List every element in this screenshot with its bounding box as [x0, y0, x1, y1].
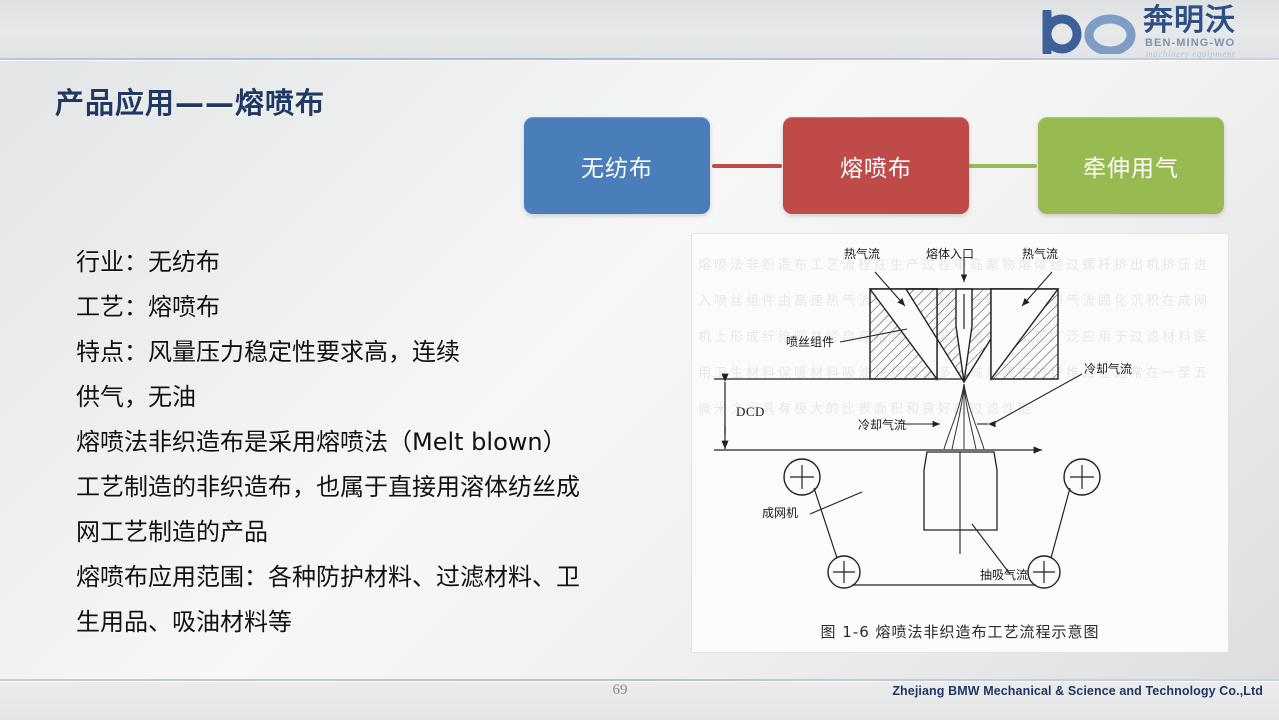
figure-label-cooling-air-center: 冷却气流 — [858, 416, 906, 433]
body-line: 生用品、吸油材料等 — [76, 600, 676, 645]
figure-label-web-former: 成网机 — [762, 504, 798, 521]
flow-box-label: 熔喷布 — [840, 149, 912, 183]
header-divider-highlight — [0, 60, 1279, 61]
bo-monogram-logo-icon — [1041, 10, 1145, 54]
figure-caption: 图 1-6 熔喷法非织造布工艺流程示意图 — [692, 621, 1228, 642]
process-diagram-figure: 熔喷法非织造布工艺流程在生产过程中高聚物熔体经过螺杆挤出机挤压进入喷丝组件由高速… — [692, 234, 1228, 652]
figure-label-hot-air-left: 热气流 — [844, 245, 880, 262]
slide: 奔明沃 BEN-MING-WO machinery equipment 产品应用… — [0, 0, 1279, 720]
logo-english-name: BEN-MING-WO — [1145, 37, 1235, 49]
brand-logo: 奔明沃 BEN-MING-WO machinery equipment — [1039, 4, 1271, 58]
figure-label-suction-air: 抽吸气流 — [980, 566, 1028, 583]
company-name: Zhejiang BMW Mechanical & Science and Te… — [892, 684, 1263, 698]
flow-box-label: 牵伸用气 — [1083, 149, 1179, 183]
connector-line-1 — [712, 164, 782, 168]
flow-box-nonwoven[interactable]: 无纺布 — [524, 117, 710, 214]
figure-label-spinneret: 喷丝组件 — [786, 333, 834, 350]
figure-label-dcd: DCD — [736, 404, 765, 420]
flow-box-label: 无纺布 — [581, 149, 653, 183]
body-text-block: 行业：无纺布 工艺：熔喷布 特点：风量压力稳定性要求高，连续 供气，无油 熔喷法… — [76, 240, 676, 645]
figure-label-melt-inlet: 熔体入口 — [926, 245, 974, 262]
body-line: 工艺：熔喷布 — [76, 285, 676, 330]
body-line: 工艺制造的非织造布，也属于直接用溶体纺丝成 — [76, 465, 676, 510]
process-flow: 无纺布 熔喷布 牵伸用气 — [524, 117, 1228, 217]
body-line: 特点：风量压力稳定性要求高，连续 — [76, 330, 676, 375]
body-line: 行业：无纺布 — [76, 240, 676, 285]
page-number: 69 — [600, 682, 640, 699]
logo-chinese-name: 奔明沃 — [1143, 5, 1236, 37]
meltblown-process-drawing — [692, 234, 1228, 652]
logo-tagline: machinery equipment — [1146, 49, 1235, 59]
body-line: 熔喷布应用范围：各种防护材料、过滤材料、卫 — [76, 555, 676, 600]
flow-box-draw-air[interactable]: 牵伸用气 — [1038, 117, 1224, 214]
body-line: 熔喷法非织造布是采用熔喷法（Melt blown） — [76, 420, 676, 465]
body-line: 网工艺制造的产品 — [76, 510, 676, 555]
body-line: 供气，无油 — [76, 375, 676, 420]
figure-label-hot-air-right: 热气流 — [1022, 245, 1058, 262]
figure-label-cooling-air-right: 冷却气流 — [1084, 360, 1132, 377]
flow-box-meltblown[interactable]: 熔喷布 — [783, 117, 969, 214]
page-title: 产品应用——熔喷布 — [55, 80, 325, 122]
connector-line-2 — [967, 164, 1037, 168]
